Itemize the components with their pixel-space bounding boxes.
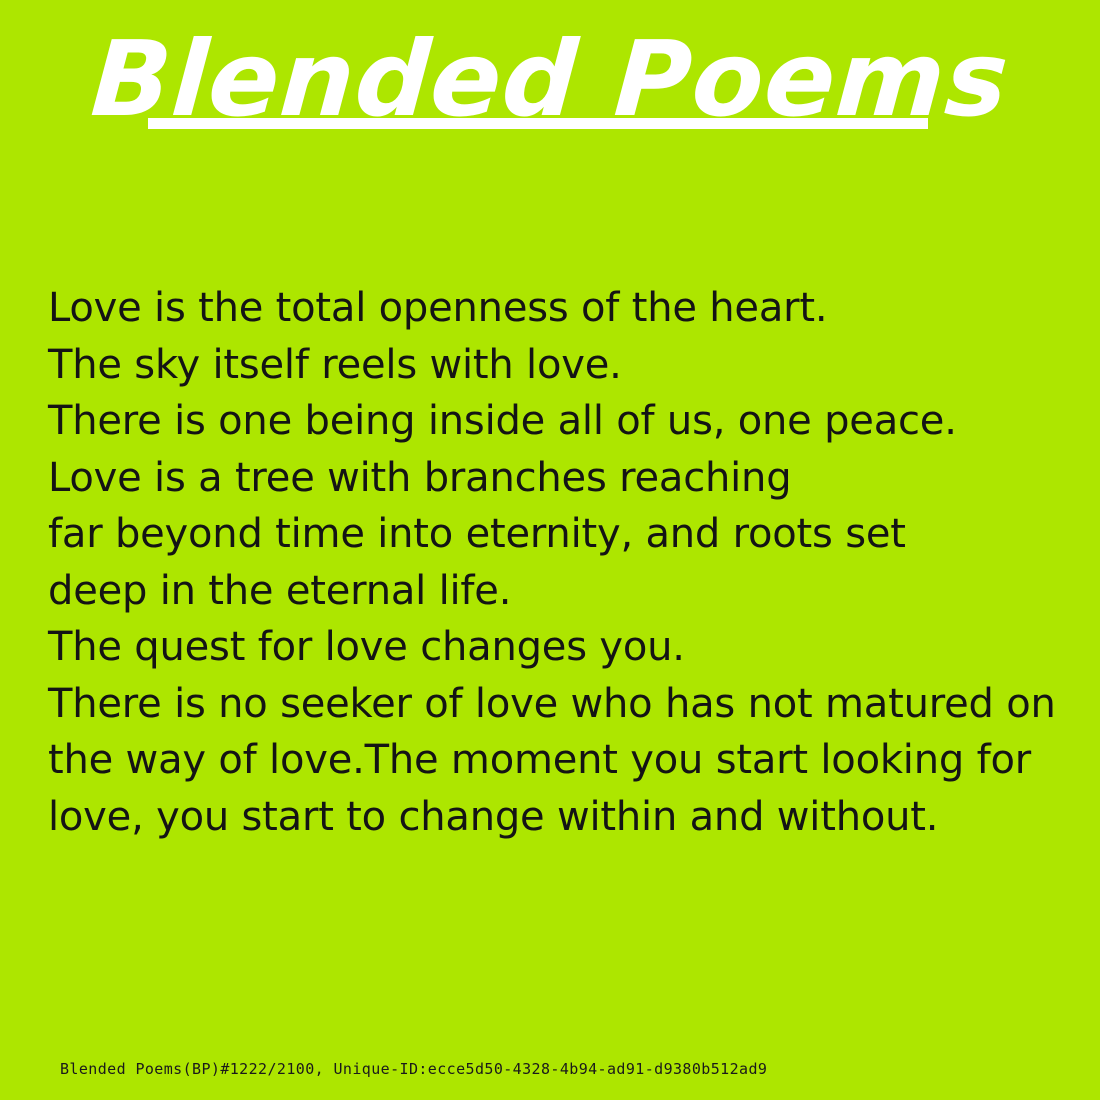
poem-line: the way of love.The moment you start loo… xyxy=(48,732,1058,789)
poem-line: The quest for love changes you. xyxy=(48,619,1058,676)
poem-line: love, you start to change within and wit… xyxy=(48,789,1058,846)
poem-line: far beyond time into eternity, and roots… xyxy=(48,506,1058,563)
poem-line: Love is the total openness of the heart. xyxy=(48,280,1058,337)
poem-line: deep in the eternal life. xyxy=(48,563,1058,620)
poem-line: There is one being inside all of us, one… xyxy=(48,393,1058,450)
poem-line: There is no seeker of love who has not m… xyxy=(48,676,1058,733)
poem-poster: Blended Poems Love is the total openness… xyxy=(0,0,1100,1100)
title-underline xyxy=(148,118,928,129)
poem-body: Love is the total openness of the heart.… xyxy=(48,280,1058,845)
footer-identifier: Blended Poems(BP)#1222/2100, Unique-ID:e… xyxy=(60,1060,767,1078)
poem-line: The sky itself reels with love. xyxy=(48,337,1058,394)
poem-line: Love is a tree with branches reaching xyxy=(48,450,1058,507)
